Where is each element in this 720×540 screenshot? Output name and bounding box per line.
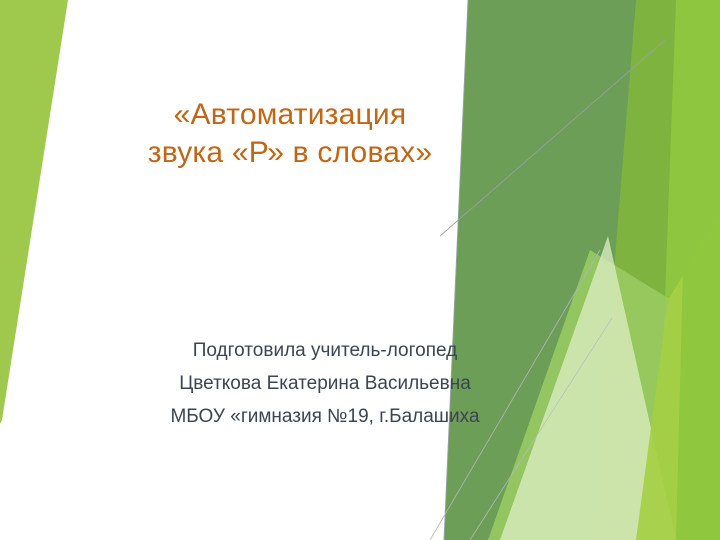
presentation-slide: «Автоматизация звука «Р» в словах» Подго…: [0, 0, 720, 540]
slide-title: «Автоматизация звука «Р» в словах»: [60, 96, 520, 172]
subtitle-line-2: Цветкова Екатерина Васильевна: [95, 367, 555, 400]
subtitle-line-3: МБОУ «гимназия №19, г.Балашиха: [95, 400, 555, 433]
title-line-1: «Автоматизация: [60, 96, 520, 134]
slide-subtitle: Подготовила учитель-логопед Цветкова Ека…: [95, 334, 555, 433]
title-line-2: звука «Р» в словах»: [60, 134, 520, 172]
slide-text-layer: «Автоматизация звука «Р» в словах» Подго…: [0, 0, 720, 540]
subtitle-line-1: Подготовила учитель-логопед: [95, 334, 555, 367]
